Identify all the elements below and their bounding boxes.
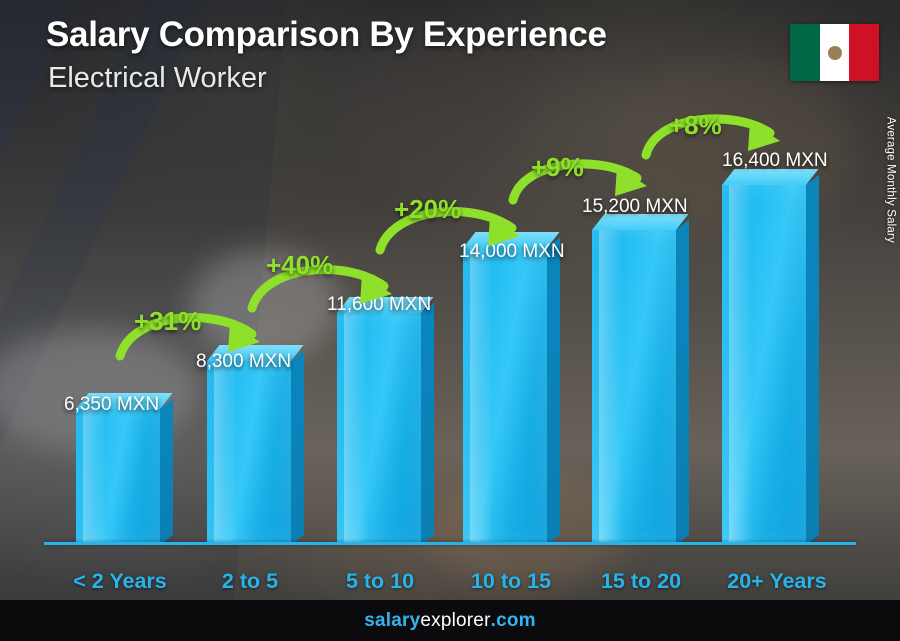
- bar-2: [337, 313, 421, 545]
- bar-face: [207, 361, 291, 545]
- growth-label-4: +8%: [669, 110, 722, 141]
- bar-face: [76, 409, 160, 545]
- growth-label-0: +31%: [134, 306, 201, 337]
- site-brand[interactable]: salaryexplorer.com: [364, 610, 536, 632]
- bar-gloss: [729, 185, 751, 545]
- bar-side: [291, 351, 304, 545]
- category-label-4: 15 to 20: [576, 569, 706, 594]
- brand-light: explorer: [420, 610, 490, 631]
- category-label-5: 20+ Years: [707, 569, 847, 594]
- brand-suffix: .com: [491, 610, 536, 631]
- growth-label-3: +9%: [531, 152, 584, 183]
- footer-bar: salaryexplorer.com: [0, 600, 900, 641]
- growth-label-1: +40%: [266, 250, 333, 281]
- category-label-1: 2 to 5: [190, 569, 310, 594]
- bar-side: [547, 238, 560, 545]
- bar-side: [160, 399, 173, 545]
- bar-5: [722, 185, 806, 545]
- bar-3: [463, 248, 547, 545]
- bar-gloss: [344, 313, 366, 545]
- bar-side: [676, 220, 689, 545]
- category-label-2: 5 to 10: [320, 569, 440, 594]
- bar-face: [722, 185, 806, 545]
- category-label-3: 10 to 15: [446, 569, 576, 594]
- bar-face: [337, 313, 421, 545]
- bar-4: [592, 230, 676, 545]
- bar-gloss: [83, 409, 105, 545]
- bar-side: [806, 175, 819, 545]
- bar-face: [592, 230, 676, 545]
- bar-face: [463, 248, 547, 545]
- bar-gloss: [599, 230, 621, 545]
- bar-1: [207, 361, 291, 545]
- value-label-0: 6,350 MXN: [64, 394, 159, 416]
- bar-side: [421, 303, 434, 545]
- category-label-0: < 2 Years: [60, 569, 180, 594]
- brand-bold: salary: [364, 610, 420, 631]
- bar-0: [76, 409, 160, 545]
- chart-page: Salary Comparison By Experience Electric…: [0, 0, 900, 641]
- growth-label-2: +20%: [394, 194, 461, 225]
- bar-chart: 6,350 MXN 8,300 MXN 11,600 MXN: [0, 0, 900, 641]
- x-axis-line: [44, 542, 856, 545]
- bar-gloss: [470, 248, 492, 545]
- bar-gloss: [214, 361, 236, 545]
